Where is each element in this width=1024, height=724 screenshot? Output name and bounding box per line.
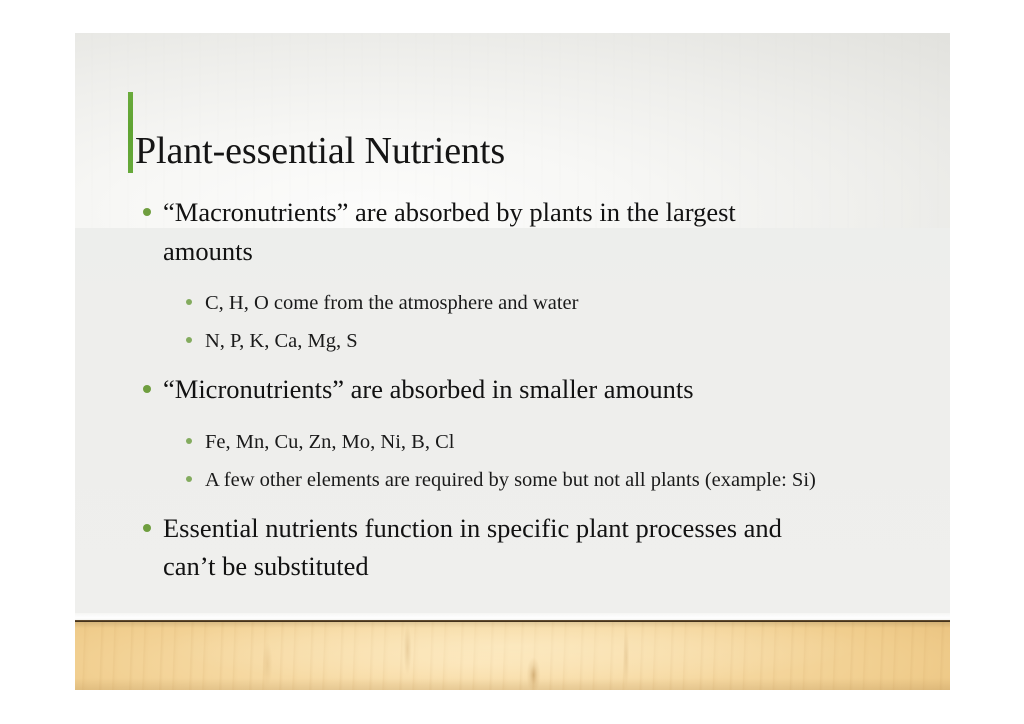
bullet-level2-text: A few other elements are required by som… bbox=[205, 469, 816, 491]
bullet-dot-icon bbox=[186, 438, 192, 444]
spacer bbox=[135, 357, 935, 370]
bullet-level1: Essential nutrients function in specific… bbox=[135, 509, 803, 586]
wood-floor-strip bbox=[75, 622, 950, 690]
bullet-level1: “Micronutrients” are absorbed in smaller… bbox=[135, 370, 763, 409]
spacer bbox=[135, 496, 935, 509]
bullet-dot-icon bbox=[143, 208, 151, 216]
bullet-dot-icon bbox=[143, 385, 151, 393]
bullet-level1: “Macronutrients” are absorbed by plants … bbox=[135, 193, 803, 270]
bullet-level2: Fe, Mn, Cu, Zn, Mo, Ni, B, Cl bbox=[135, 426, 817, 458]
bullet-level2-text: Fe, Mn, Cu, Zn, Mo, Ni, B, Cl bbox=[205, 431, 454, 453]
bullet-level1-text: Essential nutrients function in specific… bbox=[163, 513, 782, 582]
bullet-dot-icon bbox=[186, 299, 192, 305]
bullet-level2-text: N, P, K, Ca, Mg, S bbox=[205, 330, 358, 352]
slide-page: Plant-essential Nutrients “Macronutrient… bbox=[0, 0, 1024, 724]
bullet-level2: N, P, K, Ca, Mg, S bbox=[135, 325, 817, 357]
page-title: Plant-essential Nutrients bbox=[135, 128, 505, 174]
bullet-group: “Macronutrients” are absorbed by plants … bbox=[135, 193, 935, 357]
spacer bbox=[135, 271, 935, 281]
bullet-level1-text: “Macronutrients” are absorbed by plants … bbox=[163, 197, 736, 266]
bullet-group: Essential nutrients function in specific… bbox=[135, 509, 935, 586]
spacer bbox=[135, 410, 935, 420]
presentation-slide: Plant-essential Nutrients “Macronutrient… bbox=[75, 33, 950, 690]
title-accent-bar bbox=[128, 92, 133, 173]
bullet-level2-text: C, H, O come from the atmosphere and wat… bbox=[205, 292, 578, 314]
bullet-dot-icon bbox=[186, 337, 192, 343]
bullet-level1-text: “Micronutrients” are absorbed in smaller… bbox=[163, 374, 694, 404]
bullet-group: “Micronutrients” are absorbed in smaller… bbox=[135, 370, 935, 496]
bullet-level2: C, H, O come from the atmosphere and wat… bbox=[135, 287, 817, 319]
bullet-dot-icon bbox=[186, 476, 192, 482]
bullet-level2: A few other elements are required by som… bbox=[135, 464, 817, 496]
bullet-dot-icon bbox=[143, 524, 151, 532]
slide-body: “Macronutrients” are absorbed by plants … bbox=[135, 193, 935, 587]
